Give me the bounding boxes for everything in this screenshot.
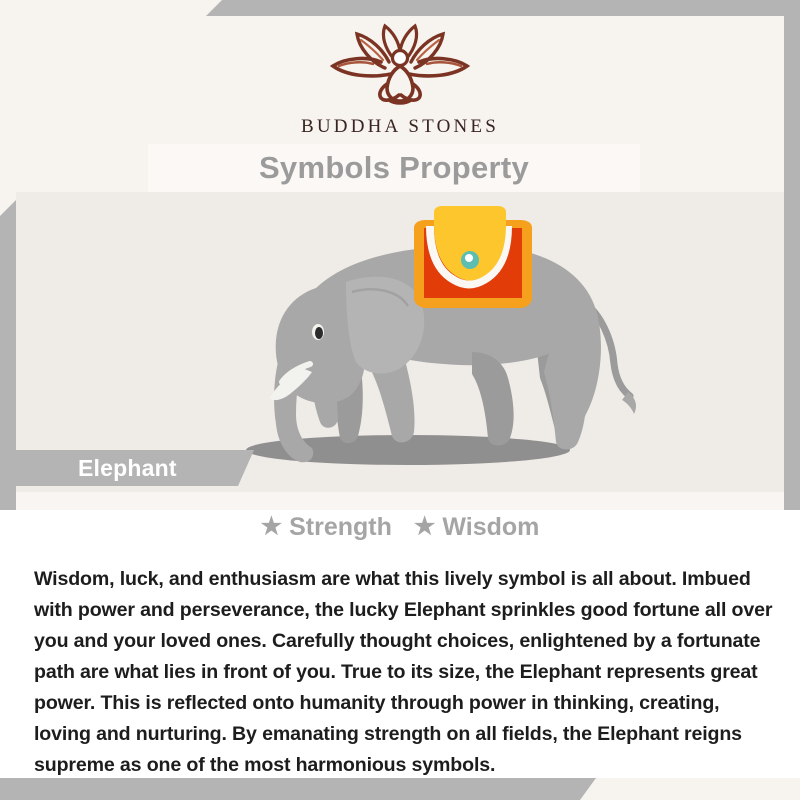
trait-wisdom: ★ Wisdom <box>414 513 540 542</box>
illustration-stage <box>16 192 784 492</box>
trait-label: Strength <box>289 513 392 542</box>
subject-label-banner: Elephant <box>16 450 254 486</box>
brand-header: BUDDHA STONES <box>16 16 784 144</box>
star-icon: ★ <box>261 515 283 539</box>
trait-label: Wisdom <box>442 513 539 542</box>
brand-name: BUDDHA STONES <box>301 116 499 138</box>
traits-row: ★ Strength ★ Wisdom <box>0 510 800 544</box>
description-section: Wisdom, luck, and enthusiasm are what th… <box>0 544 800 778</box>
page-title-band: Symbols Property <box>148 144 640 192</box>
traits-divider <box>16 492 784 510</box>
symbol-property-poster: BUDDHA STONES Symbols Property <box>0 0 800 800</box>
lotus-meditation-figure-icon <box>315 22 485 114</box>
page-title: Symbols Property <box>259 150 529 186</box>
decor-bar-right <box>784 0 800 592</box>
trait-strength: ★ Strength <box>261 513 392 542</box>
description-text: Wisdom, luck, and enthusiasm are what th… <box>34 564 774 781</box>
decor-bar-top <box>0 0 800 16</box>
walking-elephant-illustration <box>16 192 784 492</box>
subject-label: Elephant <box>78 455 177 482</box>
star-icon: ★ <box>414 515 436 539</box>
decor-bar-bottom <box>0 778 800 800</box>
